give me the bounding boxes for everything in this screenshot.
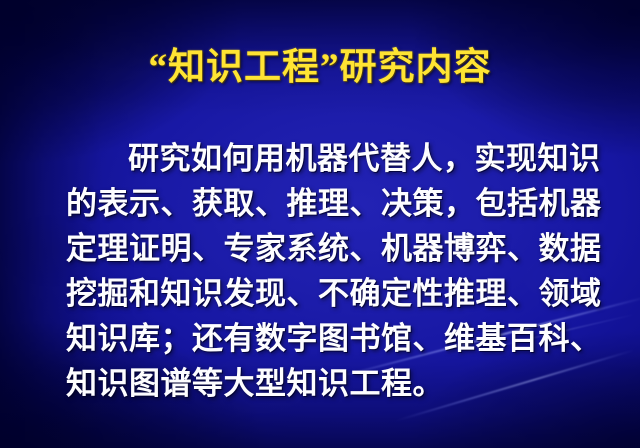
body-line: 研究如何用机器代替人，实现知识 [66,136,586,181]
body-line: 的表示、获取、推理、决策，包括机器 [66,181,586,226]
slide-body-text: 研究如何用机器代替人，实现知识 的表示、获取、推理、决策，包括机器 定理证明、专… [66,136,586,406]
slide-content: “知识工程”研究内容 研究如何用机器代替人，实现知识 的表示、获取、推理、决策，… [0,0,640,448]
body-line: 知识图谱等大型知识工程。 [66,361,586,406]
body-line: 定理证明、专家系统、机器博弈、数据 [66,226,586,271]
body-line: 知识库；还有数字图书馆、维基百科、 [66,316,586,361]
slide-title: “知识工程”研究内容 [0,46,640,90]
presentation-slide: “知识工程”研究内容 研究如何用机器代替人，实现知识 的表示、获取、推理、决策，… [0,0,640,448]
body-line: 挖掘和知识发现、不确定性推理、领域 [66,271,586,316]
